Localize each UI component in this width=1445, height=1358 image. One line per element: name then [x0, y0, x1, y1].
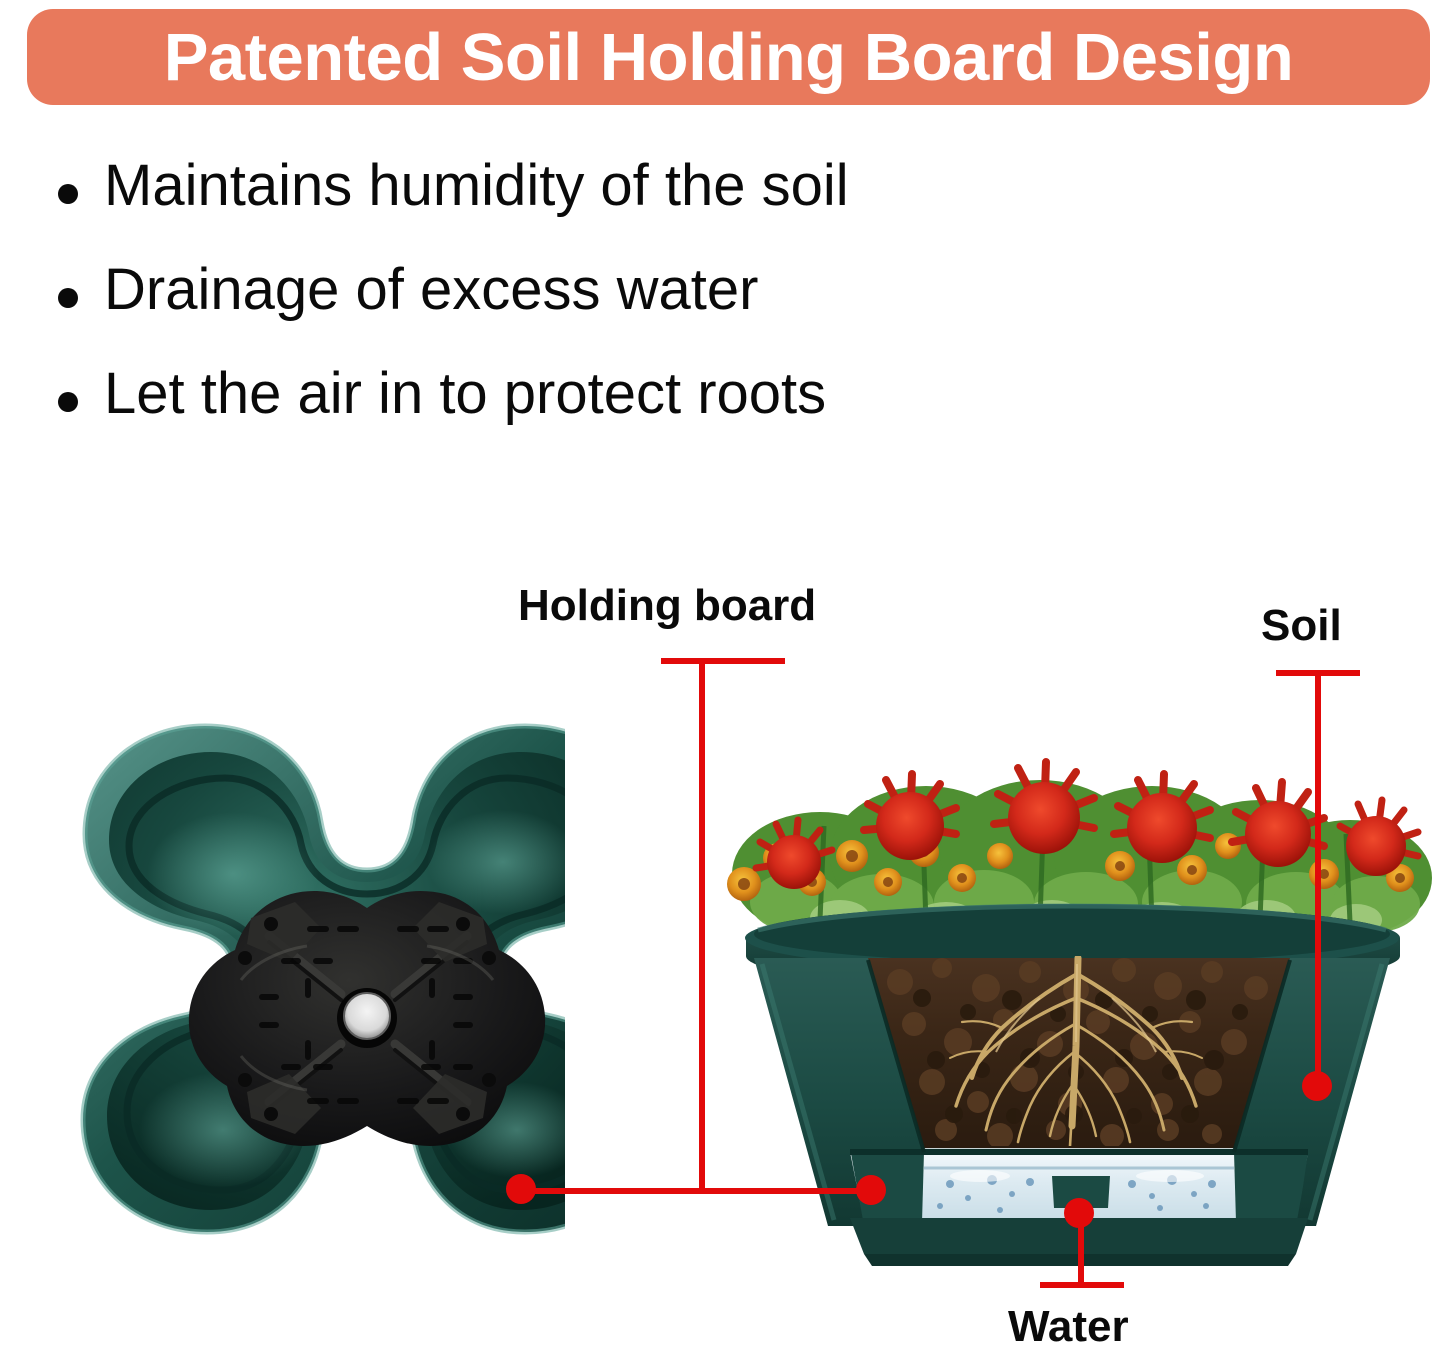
- callout-soil-stem: [1315, 670, 1321, 1086]
- callout-holding-board-stem: [699, 658, 705, 1192]
- feature-bullet-list: Maintains humidity of the soil Drainage …: [58, 156, 1158, 468]
- callout-label-holding-board: Holding board: [518, 584, 816, 628]
- callout-holding-board-crossbar: [521, 1188, 873, 1194]
- list-item: Maintains humidity of the soil: [58, 156, 1158, 260]
- bullet-label: Drainage of excess water: [104, 260, 758, 321]
- callout-holding-board-dot-left: [506, 1174, 536, 1204]
- bullet-label: Let the air in to protect roots: [104, 364, 826, 425]
- soil-layer: [868, 958, 1290, 1150]
- bullet-dot-icon: [58, 288, 78, 308]
- callout-label-soil: Soil: [1261, 604, 1342, 648]
- callout-holding-board-tbar: [661, 658, 785, 664]
- callout-soil-dot: [1302, 1071, 1332, 1101]
- holding-board-planter-image: [55, 712, 565, 1312]
- callout-label-water: Water: [1008, 1305, 1129, 1349]
- callout-holding-board-dot-right: [856, 1175, 886, 1205]
- list-item: Drainage of excess water: [58, 260, 1158, 364]
- bullet-label: Maintains humidity of the soil: [104, 156, 849, 217]
- planter-top-view-illustration: [55, 712, 565, 1312]
- center-drainage-hole: [337, 988, 397, 1048]
- page-title: Patented Soil Holding Board Design: [27, 9, 1430, 105]
- bullet-dot-icon: [58, 392, 78, 412]
- callout-water-dot: [1064, 1198, 1094, 1228]
- list-item: Let the air in to protect roots: [58, 364, 1158, 468]
- header-banner: Patented Soil Holding Board Design: [27, 9, 1430, 105]
- infographic-page: Patented Soil Holding Board Design Maint…: [0, 0, 1445, 1358]
- bullet-dot-icon: [58, 184, 78, 204]
- callout-water-stem: [1078, 1222, 1084, 1284]
